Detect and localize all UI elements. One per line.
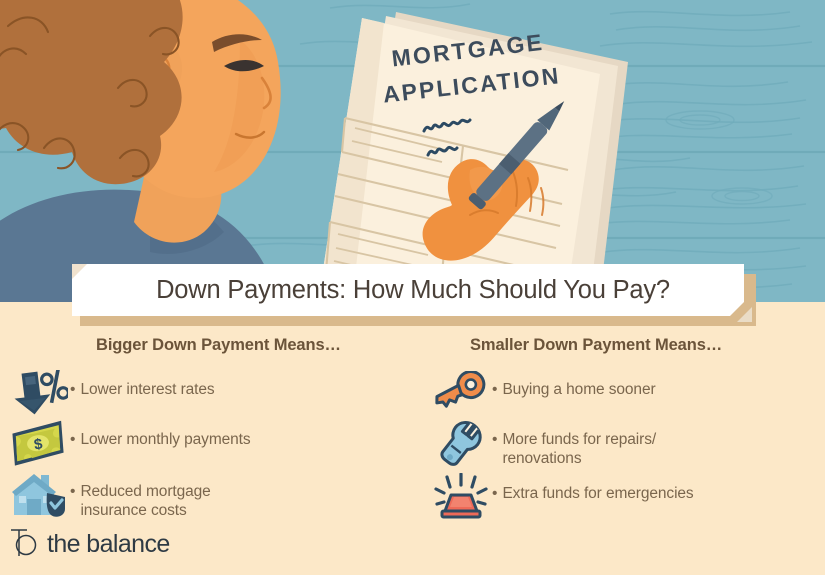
bullet-marker: • (70, 470, 80, 501)
list-item-text: Buying a home sooner (502, 368, 655, 399)
list-item: $ • Lower monthly payments (8, 418, 251, 468)
column-heading-bigger: Bigger Down Payment Means… (96, 336, 341, 355)
illustration-svg: MORTGAGE APPLICATION (0, 0, 825, 302)
list-item-text: Lower monthly payments (80, 418, 250, 449)
wrench-icon (430, 418, 492, 468)
brand-logo[interactable]: the balance (10, 527, 170, 562)
key-icon (430, 368, 492, 418)
list-item-text: Reduced mortgage insurance costs (80, 470, 210, 520)
infographic-root: MORTGAGE APPLICATION (0, 0, 825, 575)
balance-scale-mark-icon (10, 527, 40, 562)
list-item-text: Lower interest rates (80, 368, 214, 399)
list-item-text: Extra funds for emergencies (502, 472, 693, 503)
list-item: • More funds for repairs/ renovations (430, 418, 656, 468)
column-smaller-down-payment: Smaller Down Payment Means… • Buyi (440, 330, 825, 530)
dollar-bill-icon: $ (8, 418, 70, 468)
emergency-alarm-icon (430, 472, 492, 522)
comparison-columns: Bigger Down Payment Means… (0, 330, 825, 530)
list-item-text: More funds for repairs/ renovations (502, 418, 656, 468)
bullet-marker: • (492, 368, 502, 399)
column-heading-smaller: Smaller Down Payment Means… (470, 336, 722, 355)
bullet-marker: • (492, 418, 502, 449)
page-title: Down Payments: How Much Should You Pay? (72, 264, 744, 316)
column-bigger-down-payment: Bigger Down Payment Means… (0, 330, 440, 530)
person (0, 0, 281, 302)
bullet-marker: • (492, 472, 502, 503)
hero-illustration: MORTGAGE APPLICATION (0, 0, 825, 302)
percent-down-arrow-icon (8, 368, 70, 418)
list-item: • Buying a home sooner (430, 368, 656, 418)
list-item: • Extra funds for emergencies (430, 472, 694, 522)
bullet-marker: • (70, 418, 80, 449)
house-shield-check-icon (8, 470, 70, 520)
brand-logo-text: the balance (47, 532, 170, 557)
list-item: • Reduced mortgage insurance costs (8, 470, 211, 520)
list-item: • Lower interest rates (8, 368, 215, 418)
bullet-marker: • (70, 368, 80, 399)
title-banner: Down Payments: How Much Should You Pay? (72, 264, 752, 322)
